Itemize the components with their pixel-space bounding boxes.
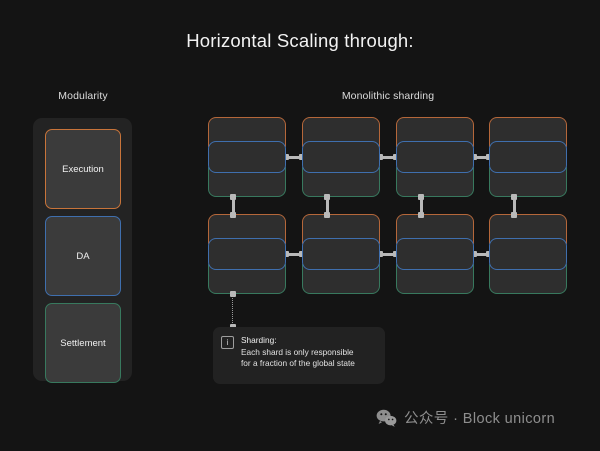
connector-handle bbox=[511, 212, 517, 218]
connector-handle bbox=[418, 194, 424, 200]
shard-layer-da bbox=[208, 238, 286, 270]
shard-r2-c3[interactable] bbox=[396, 214, 474, 294]
shard-layer-da bbox=[302, 141, 380, 173]
wechat-icon bbox=[376, 409, 397, 427]
tooltip-dotted-connector bbox=[232, 294, 233, 327]
shard-layer-da bbox=[489, 238, 567, 270]
diagram-canvas: Horizontal Scaling through: Modularity E… bbox=[0, 0, 600, 451]
watermark: 公众号 · Block unicorn bbox=[376, 407, 555, 428]
shard-layer-da bbox=[396, 141, 474, 173]
shard-r1-c1[interactable] bbox=[208, 117, 286, 197]
tooltip-line-2: for a fraction of the global state bbox=[241, 358, 355, 370]
shard-r2-c4[interactable] bbox=[489, 214, 567, 294]
shard-layer-da bbox=[208, 141, 286, 173]
tooltip-text: Sharding: Each shard is only responsible… bbox=[241, 335, 355, 376]
shard-r1-c2[interactable] bbox=[302, 117, 380, 197]
shard-layer-da bbox=[489, 141, 567, 173]
connector-handle bbox=[418, 212, 424, 218]
connector-handle bbox=[230, 291, 236, 297]
connector-handle bbox=[230, 194, 236, 200]
shard-r1-c4[interactable] bbox=[489, 117, 567, 197]
shard-r1-c3[interactable] bbox=[396, 117, 474, 197]
shard-layer-da bbox=[396, 238, 474, 270]
sharding-tooltip: i Sharding: Each shard is only responsib… bbox=[213, 327, 385, 384]
connector-handle bbox=[230, 212, 236, 218]
connector-handle bbox=[324, 212, 330, 218]
info-icon: i bbox=[221, 336, 234, 349]
watermark-text: 公众号 · Block unicorn bbox=[404, 407, 555, 428]
connector-handle bbox=[324, 194, 330, 200]
shard-layer-da bbox=[302, 238, 380, 270]
shard-r2-c2[interactable] bbox=[302, 214, 380, 294]
info-icon-glyph: i bbox=[227, 339, 229, 347]
shard-r2-c1[interactable] bbox=[208, 214, 286, 294]
tooltip-line-1: Each shard is only responsible bbox=[241, 347, 355, 359]
tooltip-title: Sharding: bbox=[241, 335, 355, 347]
connector-handle bbox=[511, 194, 517, 200]
